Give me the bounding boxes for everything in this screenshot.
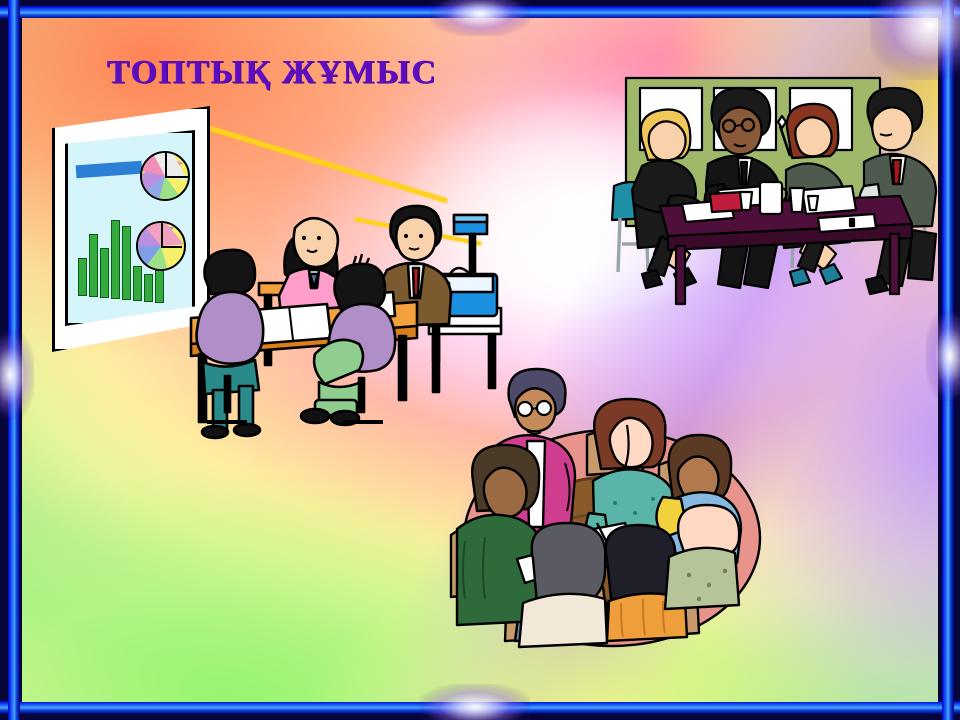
round-table-discussion-clipart — [447, 363, 777, 668]
presentation-slide: ТОПТЫҚ ЖҰМЫС — [0, 0, 960, 720]
frame-border-bottom — [0, 701, 960, 714]
slide-title: ТОПТЫҚ ЖҰМЫС — [107, 54, 438, 92]
conference-meeting-clipart — [612, 78, 938, 313]
frame-border-right — [942, 0, 954, 720]
frame-border-left — [8, 0, 20, 720]
slide-canvas: ТОПТЫҚ ЖҰМЫС — [22, 18, 938, 702]
